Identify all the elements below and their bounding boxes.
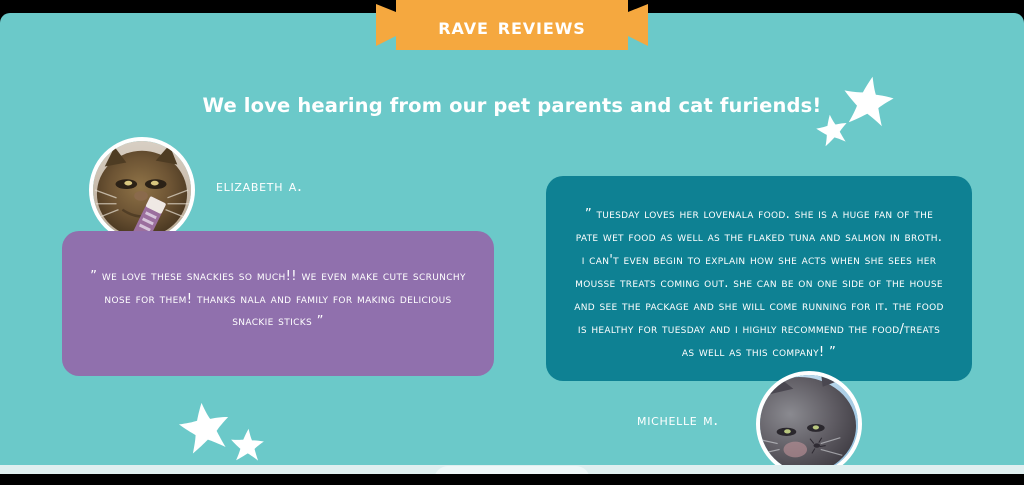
star-large-icon — [177, 400, 232, 454]
review-quote-elizabeth: ” We love these snackies so much!! We ev… — [90, 269, 466, 329]
review-card-michelle: ” Tuesday loves her LoveNala food. She i… — [546, 176, 972, 381]
star-small-icon — [815, 113, 850, 148]
stars-bottom-left-decoration — [176, 402, 276, 465]
section-headline: We love hearing from our pet parents and… — [0, 94, 1024, 117]
review-card-elizabeth: ” We love these snackies so much!! We ev… — [62, 231, 494, 376]
avatar-michelle — [756, 371, 862, 465]
banner-title: Rave Reviews — [374, 0, 650, 50]
bottom-letterbox — [0, 474, 1024, 485]
star-small-icon — [229, 427, 265, 463]
review-author-michelle: Michelle M. — [637, 411, 719, 429]
review-author-elizabeth: Elizabeth A. — [216, 177, 303, 195]
rave-reviews-banner: Rave Reviews — [374, 0, 650, 50]
review-quote-michelle: ” Tuesday loves her LoveNala food. She i… — [574, 207, 943, 360]
avatar-elizabeth — [89, 137, 195, 243]
rave-reviews-section: We love hearing from our pet parents and… — [0, 13, 1024, 465]
page-stage: We love hearing from our pet parents and… — [0, 0, 1024, 485]
